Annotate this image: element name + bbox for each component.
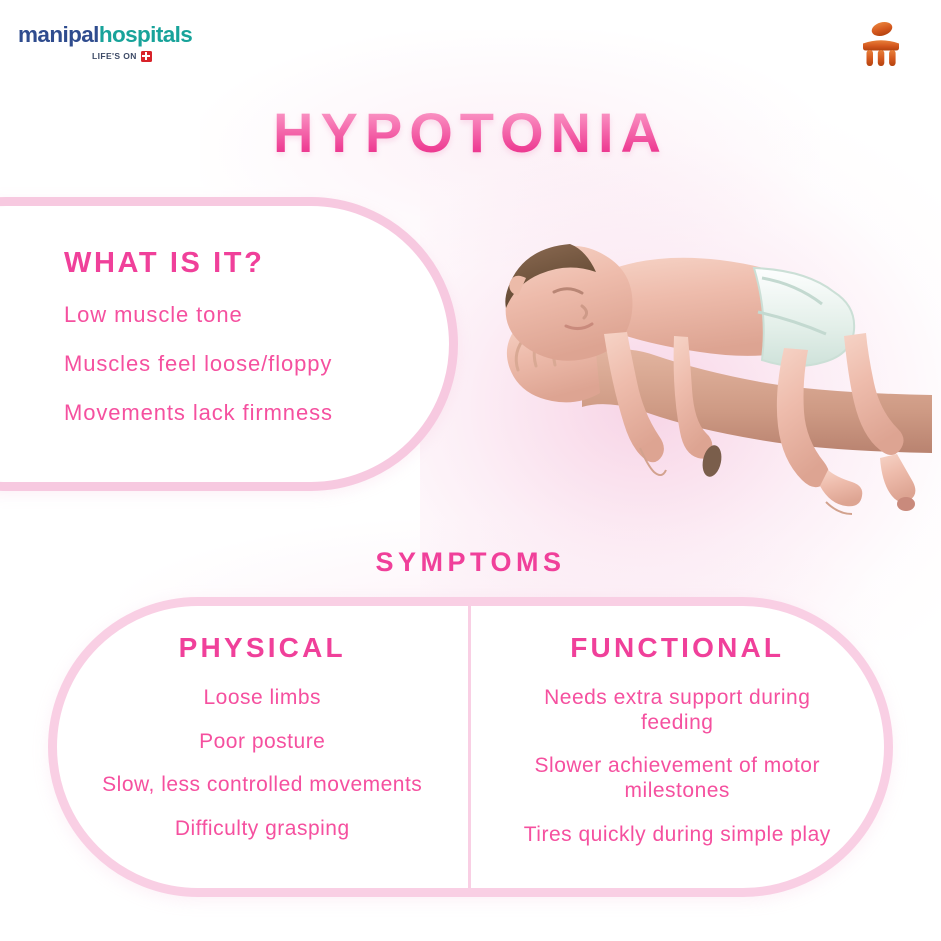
functional-item: Needs extra support during feeding bbox=[512, 686, 842, 736]
logo-word-hospitals: hospitals bbox=[99, 22, 192, 47]
physical-item: Loose limbs bbox=[203, 686, 321, 711]
what-is-it-line: Movements lack firmness bbox=[64, 400, 434, 425]
functional-heading: FUNCTIONAL bbox=[570, 633, 784, 664]
what-is-it-card: WHAT IS IT? Low muscle tone Muscles feel… bbox=[0, 197, 458, 491]
functional-item: Tires quickly during simple play bbox=[524, 823, 831, 848]
what-is-it-heading: WHAT IS IT? bbox=[64, 248, 434, 280]
logo-tagline: LIFE'S ON bbox=[92, 52, 137, 61]
manipal-hospitals-logo: manipalhospitals LIFE'S ON bbox=[18, 24, 208, 62]
physical-heading: PHYSICAL bbox=[179, 633, 346, 664]
red-cross-icon bbox=[141, 51, 152, 62]
symptoms-column-functional: FUNCTIONAL Needs extra support during fe… bbox=[471, 606, 885, 888]
infographic-poster: manipalhospitals LIFE'S ON HYPOTONIA bbox=[0, 0, 941, 941]
what-is-it-content: WHAT IS IT? Low muscle tone Muscles feel… bbox=[64, 248, 434, 426]
physical-item: Poor posture bbox=[199, 730, 325, 755]
symptoms-column-physical: PHYSICAL Loose limbs Poor posture Slow, … bbox=[57, 606, 471, 888]
orange-figure-icon bbox=[853, 18, 909, 74]
logo-word-manipal: manipal bbox=[18, 22, 99, 47]
functional-item: Slower achievement of motor milestones bbox=[512, 754, 842, 804]
logo-wordmark: manipalhospitals bbox=[18, 24, 208, 47]
page-title: HYPOTONIA bbox=[0, 104, 941, 163]
logo-tagline-row: LIFE'S ON bbox=[18, 51, 208, 62]
what-is-it-line: Low muscle tone bbox=[64, 302, 434, 327]
baby-photo bbox=[462, 186, 932, 606]
physical-item: Difficulty grasping bbox=[175, 817, 350, 842]
what-is-it-line: Muscles feel loose/floppy bbox=[64, 351, 434, 376]
symptoms-section-label: SYMPTOMS bbox=[0, 548, 941, 578]
physical-item: Slow, less controlled movements bbox=[102, 773, 422, 798]
symptoms-card: PHYSICAL Loose limbs Poor posture Slow, … bbox=[48, 597, 893, 897]
